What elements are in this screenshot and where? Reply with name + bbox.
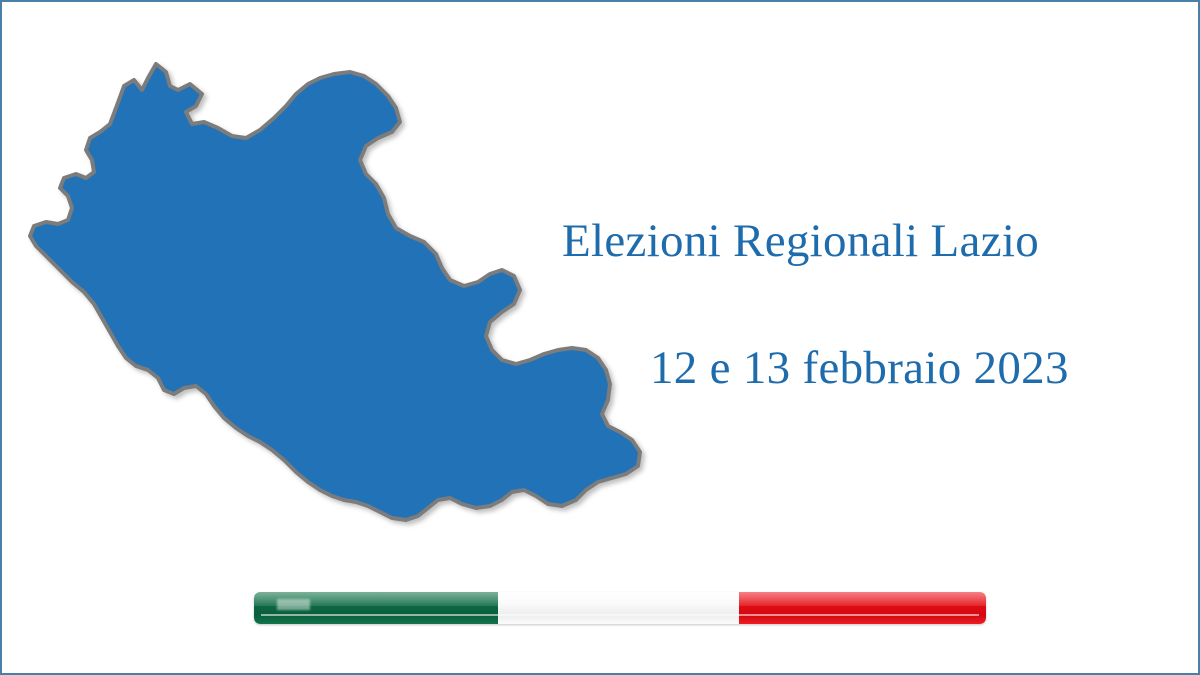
poster-text-block: Elezioni Regionali Lazio 12 e 13 febbrai… xyxy=(562,217,1162,393)
flag-band-white xyxy=(498,592,738,624)
flag-band-green xyxy=(254,592,498,624)
election-poster: Elezioni Regionali Lazio 12 e 13 febbrai… xyxy=(0,0,1200,675)
italian-flag-bar xyxy=(254,592,986,624)
flag-band-red xyxy=(739,592,986,624)
lazio-region-shape xyxy=(30,64,640,520)
poster-date: 12 e 13 febbraio 2023 xyxy=(650,344,1162,393)
poster-title: Elezioni Regionali Lazio xyxy=(562,217,1162,266)
